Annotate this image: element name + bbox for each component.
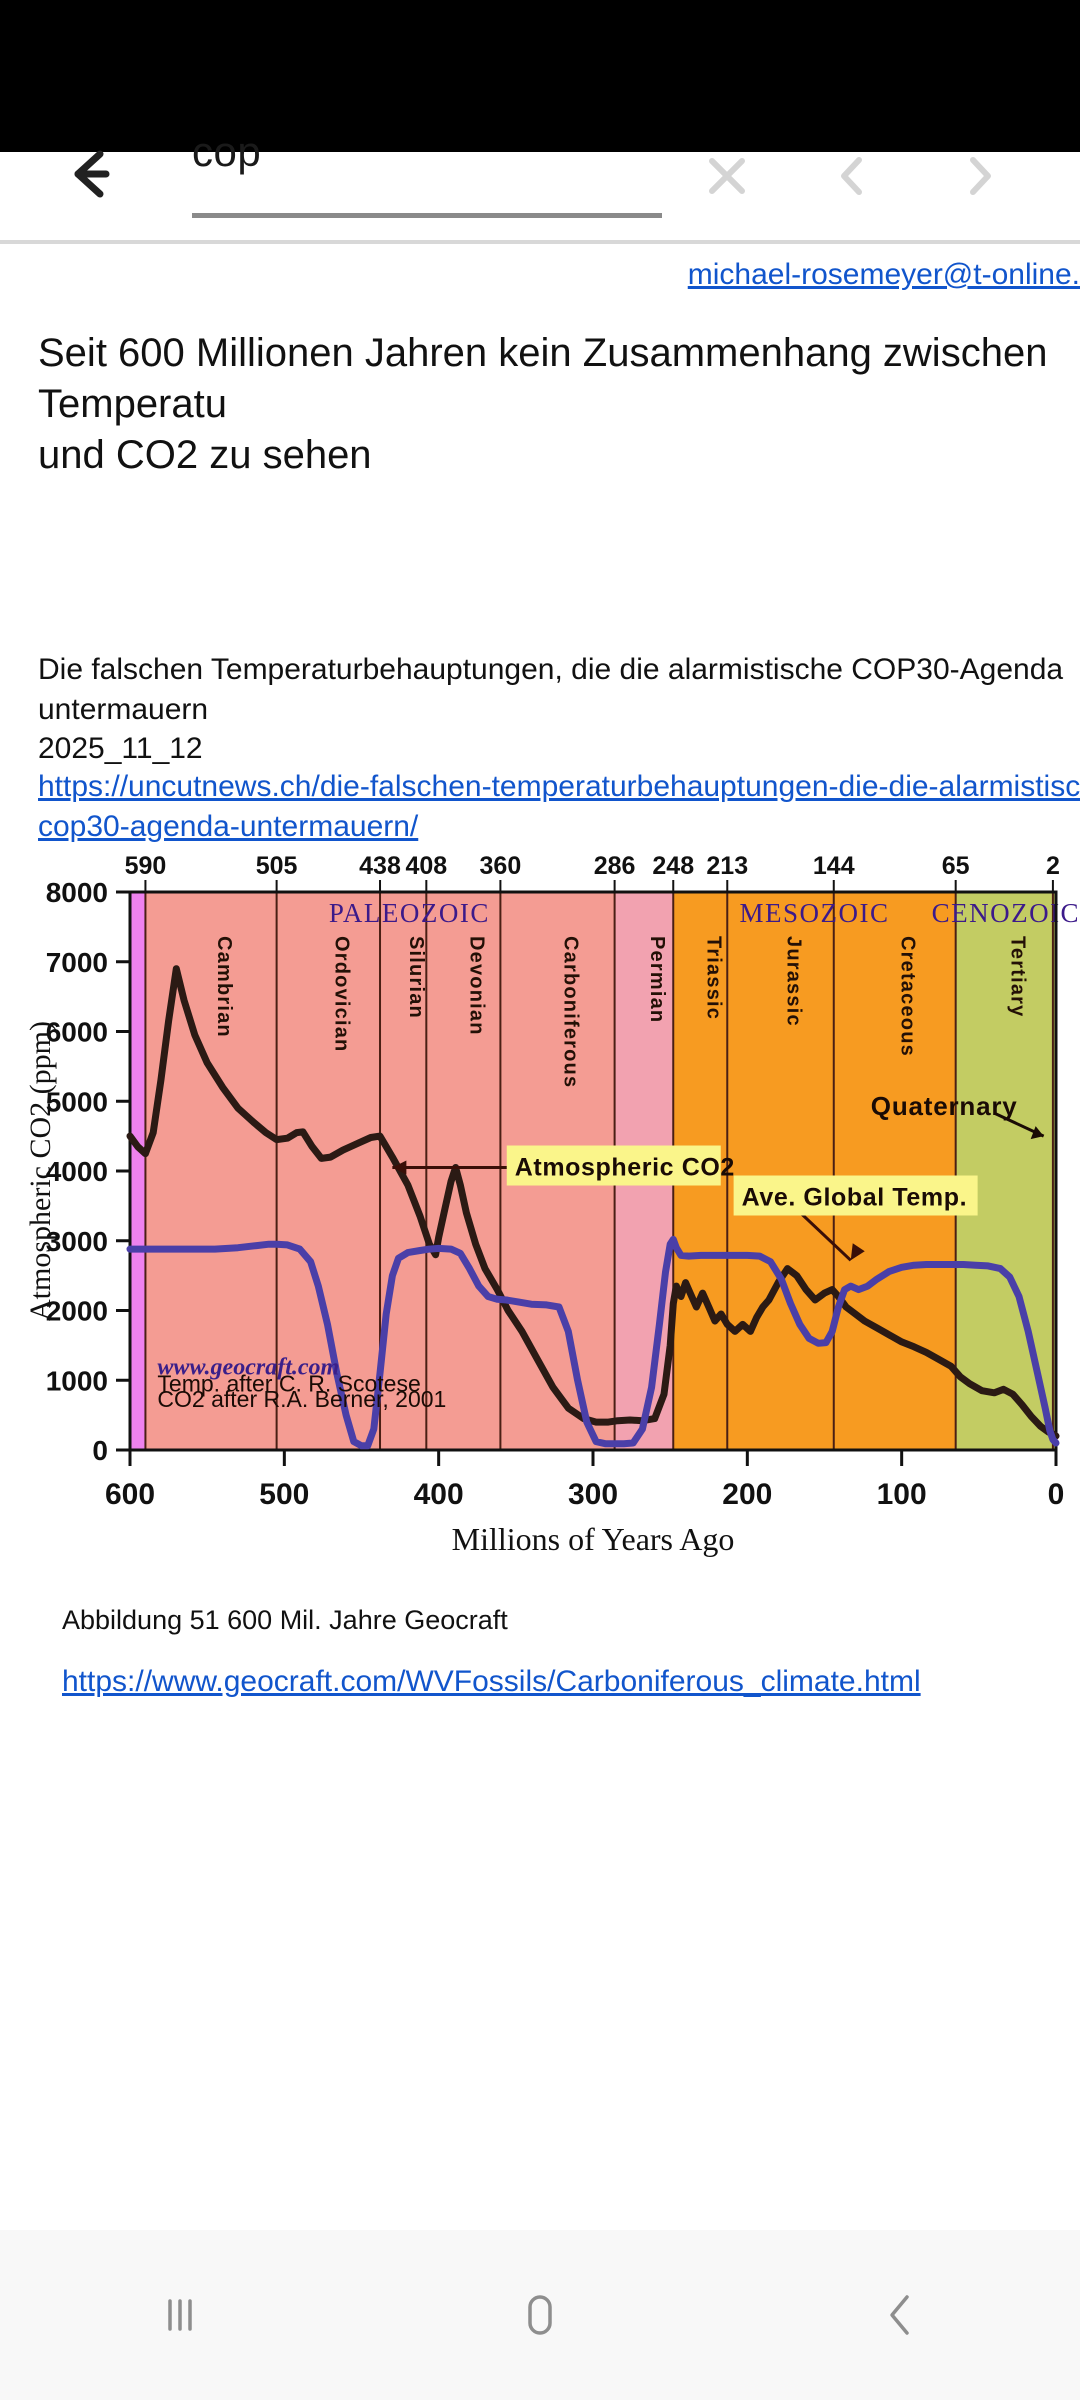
top-axis-label: 248 [652, 852, 694, 880]
author-email-link[interactable]: michael-rosemeyer@t-online. [0, 258, 1080, 292]
nav-back-icon[interactable] [800, 2230, 1000, 2400]
period-label: Silurian [405, 936, 427, 1019]
era-label: MESOZOIC [739, 898, 889, 928]
top-axis-label: 65 [942, 852, 970, 880]
chart-svg: PALEOZOICMESOZOICCENOZOICCambrianOrdovic… [18, 850, 1080, 1590]
period-label: Carboniferous [560, 936, 582, 1088]
y-tick-label: 8000 [46, 877, 108, 908]
top-axis-label: 408 [405, 852, 447, 880]
top-axis-label: 2 [1046, 852, 1060, 880]
figure-caption: Abbildung 51 600 Mil. Jahre Geocraft [62, 1605, 508, 1636]
top-axis-label: 590 [125, 852, 167, 880]
chevron-left-icon[interactable] [790, 132, 916, 220]
co2-callout-label: Atmospheric CO2 [515, 1154, 735, 1182]
top-axis-label: 438 [359, 852, 401, 880]
android-navigation-bar [0, 2230, 1080, 2400]
top-axis-label: 360 [480, 852, 522, 880]
article-source-link[interactable]: https://uncutnews.ch/die-falschen-temper… [38, 767, 1080, 846]
search-input-underline [192, 213, 662, 218]
quaternary-label: Quaternary [871, 1091, 1018, 1121]
search-input-value: cop [192, 128, 261, 176]
find-in-page-bar: cop [0, 152, 1080, 240]
x-tick-label: 100 [877, 1478, 927, 1511]
y-tick-label: 7000 [46, 947, 108, 978]
top-axis-label: 505 [256, 852, 298, 880]
close-icon[interactable] [664, 132, 790, 220]
top-axis-label: 213 [706, 852, 748, 880]
back-arrow-icon[interactable] [48, 130, 136, 218]
era-label: PALEOZOIC [329, 898, 490, 928]
x-tick-label: 500 [259, 1478, 309, 1511]
period-label: Tertiary [1006, 936, 1028, 1018]
phone-screen: cop michael-rosemeyer@t-onl [0, 0, 1080, 2400]
recents-icon[interactable] [80, 2230, 280, 2400]
find-bar-actions [664, 132, 1042, 220]
x-tick-label: 300 [568, 1478, 618, 1511]
x-tick-label: 400 [414, 1478, 464, 1511]
era-label: CENOZOIC [932, 898, 1080, 928]
article-paragraph: Die falschen Temperaturbehauptungen, die… [38, 650, 1080, 769]
period-label: Devonian [465, 936, 487, 1036]
period-band [834, 892, 956, 1450]
top-axis-label: 286 [594, 852, 636, 880]
period-label: Triassic [702, 936, 724, 1020]
period-label: Ordovician [330, 936, 352, 1052]
period-band [130, 892, 145, 1450]
article-line-2: untermauern [38, 690, 1080, 730]
period-band [727, 892, 833, 1450]
y-tick-label: 0 [92, 1435, 108, 1466]
credit-co2-source: CO2 after R.A. Berner, 2001 [157, 1386, 446, 1412]
period-label: Cambrian [213, 936, 235, 1038]
temp-callout-label: Ave. Global Temp. [742, 1184, 968, 1212]
period-label: Permian [646, 936, 668, 1023]
article-line-3: 2025_11_12 [38, 729, 1080, 769]
geocraft-co2-temperature-chart: PALEOZOICMESOZOICCENOZOICCambrianOrdovic… [18, 850, 1080, 1590]
page-gap-strip [0, 2166, 1080, 2230]
y-axis-title: Atmospheric CO2 (ppm) [24, 1021, 57, 1321]
article-line-1: Die falschen Temperaturbehauptungen, die… [38, 650, 1080, 690]
page-top-divider [0, 240, 1080, 244]
document-page[interactable]: michael-rosemeyer@t-online. Seit 600 Mil… [0, 240, 1080, 2165]
period-band [426, 892, 500, 1450]
figure-source-link[interactable]: https://www.geocraft.com/WVFossils/Carbo… [62, 1665, 921, 1699]
page-title: Seit 600 Millionen Jahren kein Zusammenh… [38, 328, 1080, 482]
x-tick-label: 200 [722, 1478, 772, 1511]
period-label: Cretaceous [897, 936, 919, 1057]
top-axis-label: 144 [813, 852, 855, 880]
search-input[interactable]: cop [192, 122, 662, 222]
y-tick-label: 1000 [46, 1365, 108, 1396]
x-tick-label: 600 [105, 1478, 155, 1511]
x-axis-title: Millions of Years Ago [452, 1521, 735, 1557]
home-icon[interactable] [440, 2230, 640, 2400]
chevron-right-icon[interactable] [916, 132, 1042, 220]
period-label: Jurassic [783, 936, 805, 1027]
x-tick-label: 0 [1048, 1478, 1065, 1511]
